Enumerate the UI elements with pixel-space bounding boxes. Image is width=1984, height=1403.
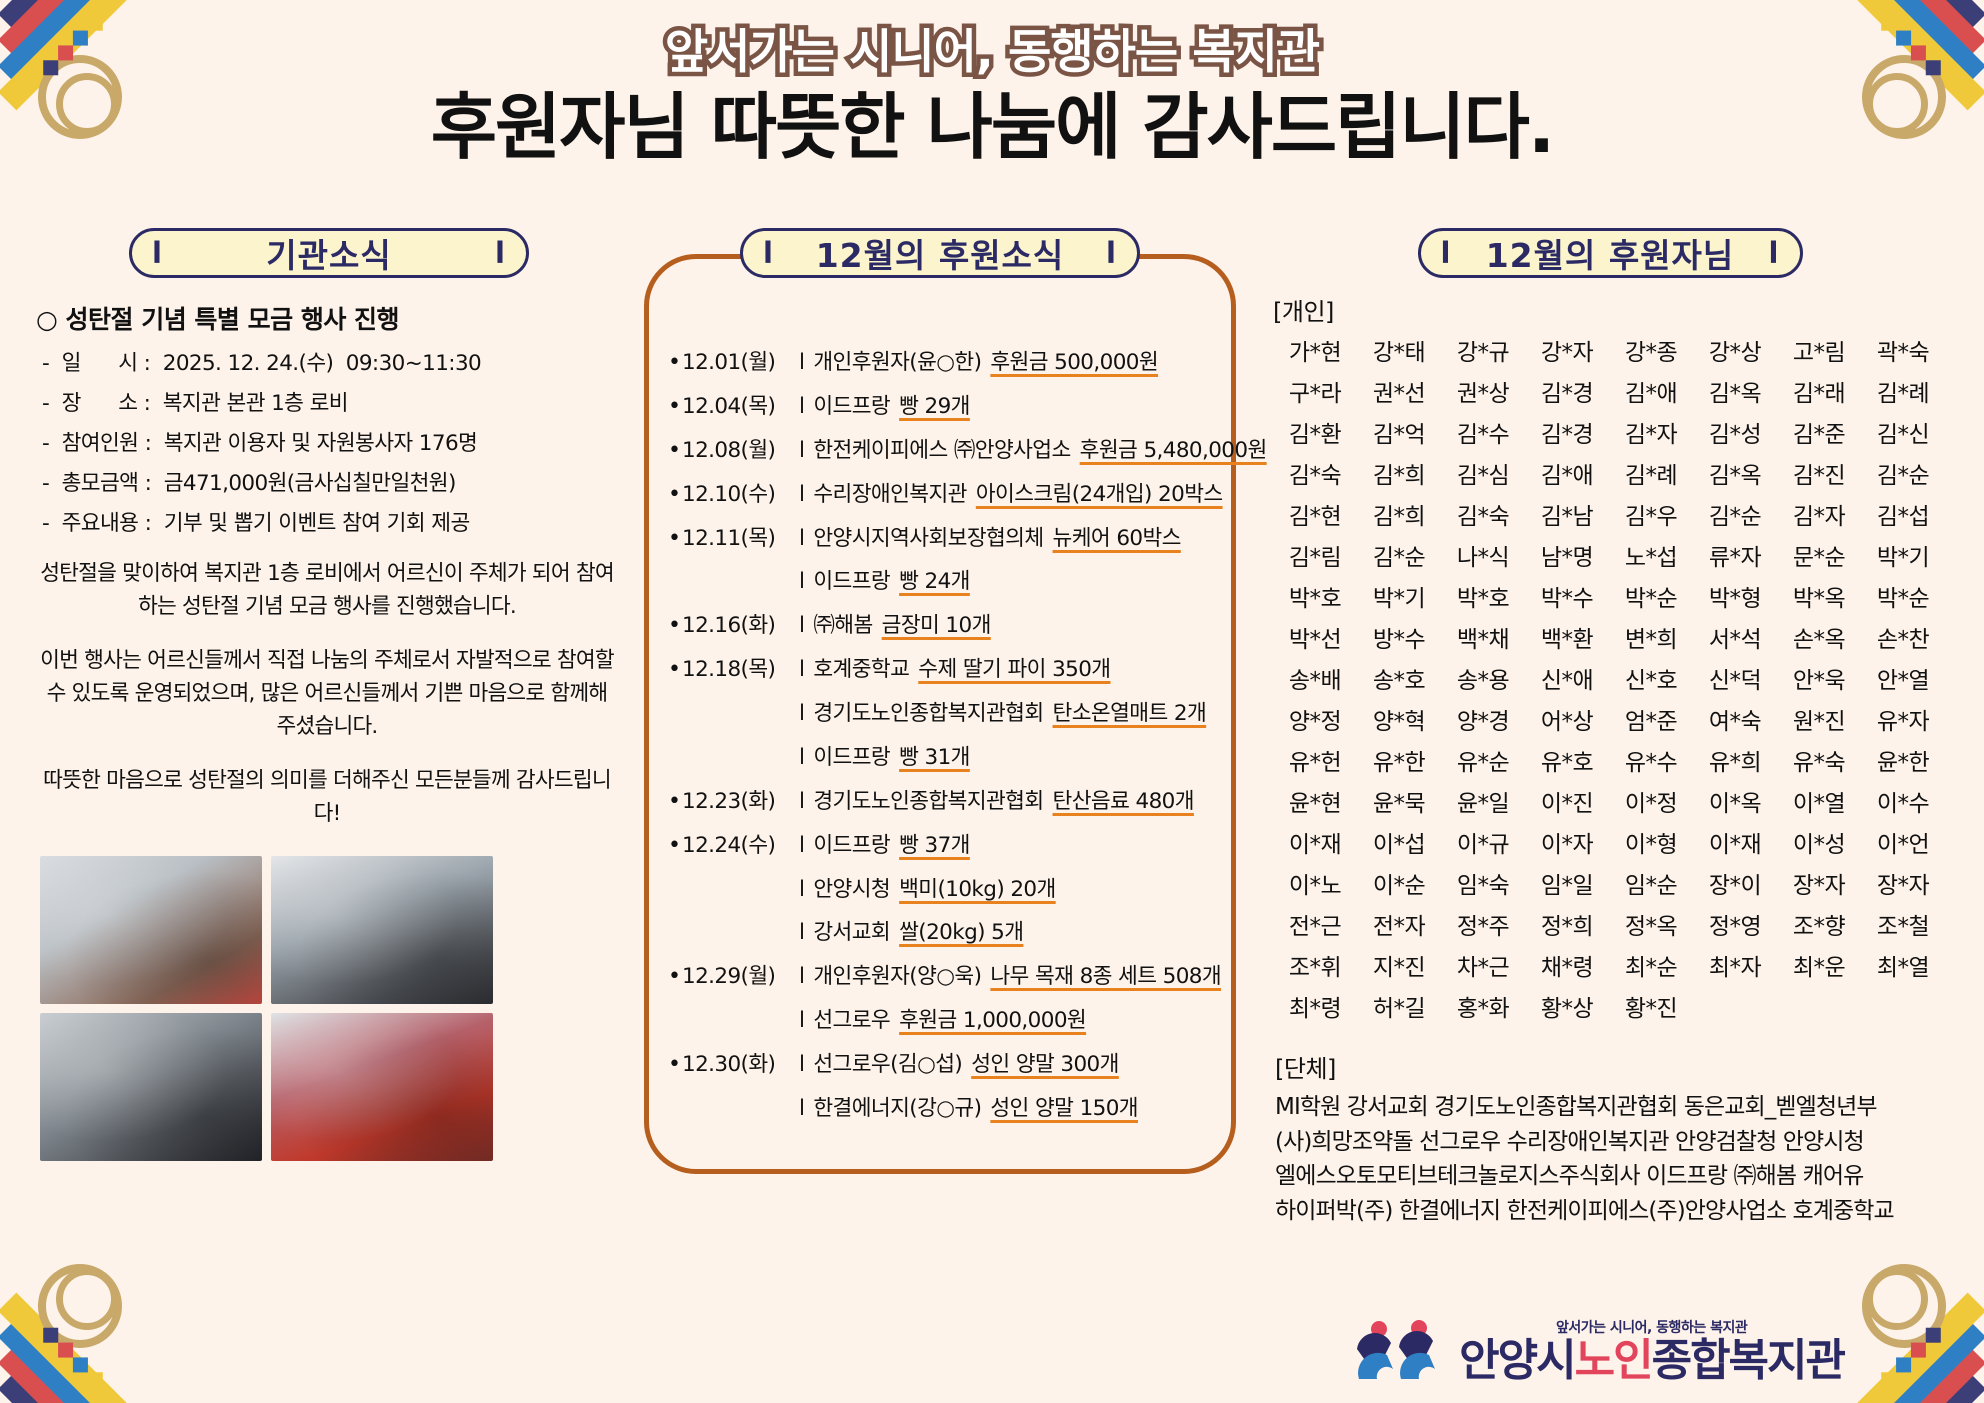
- donor-name-cell: 박*수: [1527, 579, 1607, 613]
- donor-name-cell: 이*성: [1779, 825, 1859, 859]
- separator-icon: l: [790, 964, 813, 991]
- donor-name-cell: 김*남: [1527, 497, 1607, 531]
- donor-name-cell: 박*형: [1695, 579, 1775, 613]
- donor-name-cell: 김*희: [1359, 497, 1439, 531]
- donor-name: 강서교회: [813, 920, 890, 947]
- donor-name-cell: 양*정: [1275, 702, 1355, 736]
- pill-tick-right-icon: l: [1769, 236, 1780, 270]
- donor-name-cell: 어*상: [1527, 702, 1607, 736]
- corner-ornament-bottom-left: [0, 1253, 150, 1403]
- separator-icon: l: [790, 1096, 813, 1123]
- separator-icon: l: [790, 789, 813, 816]
- donor-name-cell: 윤*묵: [1359, 784, 1439, 818]
- donor-name-cell: 박*옥: [1779, 579, 1859, 613]
- donor-name-cell: 유*숙: [1779, 743, 1859, 777]
- separator-icon: l: [790, 657, 813, 684]
- donor-name-cell: 이*진: [1527, 784, 1607, 818]
- donor-name-cell: 강*태: [1359, 333, 1439, 367]
- donor-name-cell: 김*수: [1443, 415, 1523, 449]
- donation-date: 12.30(화): [682, 1052, 790, 1079]
- event-photo: [40, 856, 262, 1004]
- donation-amount: 탄소온열매트 2개: [1044, 701, 1207, 728]
- bullet-icon: •: [668, 615, 682, 637]
- donation-date: 12.24(수): [682, 833, 790, 860]
- column-institution-news: l 기관소식 l ○ 성탄절 기념 특별 모금 행사 진행 - 일 시 : 20…: [0, 228, 630, 1228]
- donor-name-cell: 송*호: [1359, 661, 1439, 695]
- donor-name-cell: 김*애: [1611, 374, 1691, 408]
- column-donor-names: l 12월의 후원자님 l [개인] 가*현강*태강*규강*자강*종강*상고*림…: [1255, 228, 1955, 1228]
- donor-name-cell: 장*자: [1863, 866, 1943, 900]
- donor-name-cell: 양*혁: [1359, 702, 1439, 736]
- donor-name-cell: 이*열: [1779, 784, 1859, 818]
- donor-name-cell: 윤*일: [1443, 784, 1523, 818]
- donor-name-cell: 류*자: [1695, 538, 1775, 572]
- bullet-icon: •: [668, 835, 682, 857]
- donation-amount: 아이스크림(24개입) 20박스: [967, 482, 1223, 509]
- donation-date: 12.23(화): [682, 789, 790, 816]
- separator-icon: l: [790, 482, 813, 509]
- donor-name-cell: 강*종: [1611, 333, 1691, 367]
- donor-name-cell: 김*경: [1527, 415, 1607, 449]
- donation-amount: 후원금 500,000원: [981, 350, 1158, 377]
- donor-name-cell: 전*근: [1275, 907, 1355, 941]
- organization-donor-line: 엘에스오토모티브테크놀로지스주식회사 이드프랑 ㈜해봄 캐어유: [1275, 1159, 1945, 1194]
- donation-list-item: •12.00(월)l한결에너지(강○규)성인 양말 150개: [668, 1096, 1246, 1123]
- donor-name-cell: 엄*준: [1611, 702, 1691, 736]
- donor-name-cell: 최*순: [1611, 948, 1691, 982]
- donor-name-cell: 김*진: [1779, 456, 1859, 490]
- donor-name-cell: 김*준: [1779, 415, 1859, 449]
- donor-name-cell: 임*순: [1611, 866, 1691, 900]
- donation-list-item: •12.10(수)l수리장애인복지관아이스크림(24개입) 20박스: [668, 482, 1246, 509]
- donor-name-cell: 김*성: [1695, 415, 1775, 449]
- donor-name-cell: 이*자: [1527, 825, 1607, 859]
- donor-name-cell: 이*형: [1611, 825, 1691, 859]
- section-heading-label: 12월의 후원소식: [816, 229, 1065, 277]
- donor-name-cell: 박*호: [1275, 579, 1355, 613]
- donor-name: 개인후원자(양○욱): [813, 964, 981, 991]
- donor-name-cell: 이*규: [1443, 825, 1523, 859]
- donor-name-cell: 김*희: [1359, 456, 1439, 490]
- donation-amount: 백미(10kg) 20개: [890, 877, 1056, 904]
- donor-name-cell: 최*열: [1863, 948, 1943, 982]
- donor-name: 선그로우: [813, 1008, 890, 1035]
- donation-amount: 뉴케어 60박스: [1044, 526, 1181, 553]
- event-photo: [271, 1013, 493, 1161]
- donor-name: 안양시청: [813, 877, 890, 904]
- donation-date: 12.11(목): [682, 526, 790, 553]
- donor-name-cell: 유*헌: [1275, 743, 1355, 777]
- donor-name-cell: 유*한: [1359, 743, 1439, 777]
- donation-amount: 후원금 1,000,000원: [890, 1008, 1086, 1035]
- donation-list-item: •12.00(월)l안양시청백미(10kg) 20개: [668, 877, 1246, 904]
- donation-amount: 수제 딸기 파이 350개: [909, 657, 1110, 684]
- donor-name-cell: 윤*현: [1275, 784, 1355, 818]
- donation-date: 12.08(월): [682, 438, 790, 465]
- bullet-icon: •: [668, 440, 682, 462]
- pill-tick-right-icon: l: [1106, 236, 1117, 270]
- donor-name-cell: 송*용: [1443, 661, 1523, 695]
- donor-name-cell: 이*순: [1359, 866, 1439, 900]
- donor-name-cell: 양*경: [1443, 702, 1523, 736]
- bullet-icon: •: [668, 484, 682, 506]
- donor-name: 안양시지역사회보장협의체: [813, 526, 1043, 553]
- corner-ornament-bottom-right: [1834, 1253, 1984, 1403]
- separator-icon: l: [790, 526, 813, 553]
- donation-date: 12.29(월): [682, 964, 790, 991]
- donor-name-cell: 박*기: [1359, 579, 1439, 613]
- donor-name-cell: 김*현: [1275, 497, 1355, 531]
- donor-name-cell: 김*자: [1611, 415, 1691, 449]
- organization-donors-block: [단체] MI학원 강서교회 경기도노인종합복지관협회 동은교회_벧엘청년부(사…: [1275, 1049, 1945, 1228]
- donor-name-cell: 정*희: [1527, 907, 1607, 941]
- news-detail-line: - 총모금액 : 금471,000원(금사십칠만일천원): [42, 466, 630, 497]
- donor-name-cell: 김*우: [1611, 497, 1691, 531]
- corner-ornament-top-left: [0, 0, 150, 150]
- donor-name-cell: 김*숙: [1443, 497, 1523, 531]
- donor-name: 이드프랑: [813, 745, 890, 772]
- donor-name-cell: 이*정: [1611, 784, 1691, 818]
- donor-name-cell: 유*순: [1443, 743, 1523, 777]
- section-heading-label: 기관소식: [266, 229, 391, 277]
- donation-list-item: •12.16(화)l㈜해봄금장미 10개: [668, 613, 1246, 640]
- donor-name-cell: 이*언: [1863, 825, 1943, 859]
- news-detail-line: - 주요내용 : 기부 및 뽑기 이벤트 참여 기회 제공: [42, 506, 630, 537]
- donor-name-cell: 신*애: [1527, 661, 1607, 695]
- separator-icon: l: [790, 833, 813, 860]
- news-paragraphs: 성탄절을 맞이하여 복지관 1층 로비에서 어르신이 주체가 되어 참여하는 성…: [28, 557, 630, 830]
- separator-icon: l: [790, 569, 813, 596]
- donation-date: 12.16(화): [682, 613, 790, 640]
- donor-name-cell: 김*순: [1695, 497, 1775, 531]
- donor-name: 한전케이피에스 ㈜안양사업소: [813, 438, 1070, 465]
- donor-name: 수리장애인복지관: [813, 482, 966, 509]
- donation-list-item: •12.30(화)l선그로우(김○섭)성인 양말 300개: [668, 1052, 1246, 1079]
- donor-name-cell: 남*명: [1527, 538, 1607, 572]
- donor-name-cell: 황*상: [1527, 989, 1607, 1023]
- donor-name: 이드프랑: [813, 569, 890, 596]
- donor-name-cell: 정*옥: [1611, 907, 1691, 941]
- donor-name-cell: 김*경: [1527, 374, 1607, 408]
- donor-name-cell: 안*열: [1863, 661, 1943, 695]
- poster-header: 앞서가는 시니어, 동행하는 복지관 후원자님 따뜻한 나눔에 감사드립니다.: [0, 0, 1984, 172]
- donor-name-cell: 김*례: [1863, 374, 1943, 408]
- page-title: 후원자님 따뜻한 나눔에 감사드립니다.: [0, 82, 1984, 172]
- donation-date: 12.04(목): [682, 394, 790, 421]
- donation-amount: 나무 목재 8종 세트 508개: [981, 964, 1221, 991]
- donor-name: 경기도노인종합복지관협회: [813, 789, 1043, 816]
- donor-name-cell: 유*호: [1527, 743, 1607, 777]
- donor-name-cell: 장*이: [1695, 866, 1775, 900]
- donor-name-cell: 박*호: [1443, 579, 1523, 613]
- donation-list-item: •12.23(화)l경기도노인종합복지관협회탄산음료 480개: [668, 789, 1246, 816]
- donation-list-item: •12.11(목)l안양시지역사회보장협의체뉴케어 60박스: [668, 526, 1246, 553]
- donor-name-cell: 손*찬: [1863, 620, 1943, 654]
- donation-list-item: •12.00(월)l경기도노인종합복지관협회탄소온열매트 2개: [668, 701, 1246, 728]
- donation-list-item: •12.01(월)l개인후원자(윤○한)후원금 500,000원: [668, 350, 1246, 377]
- donor-name-cell: 최*운: [1779, 948, 1859, 982]
- donor-name-cell: 김*억: [1359, 415, 1439, 449]
- donor-name-cell: 고*림: [1779, 333, 1859, 367]
- donation-date: 12.18(목): [682, 657, 790, 684]
- donor-name-cell: 권*선: [1359, 374, 1439, 408]
- donor-name-cell: 노*섭: [1611, 538, 1691, 572]
- news-paragraph: 성탄절을 맞이하여 복지관 1층 로비에서 어르신이 주체가 되어 참여하는 성…: [38, 557, 616, 624]
- donor-name-cell: 이*옥: [1695, 784, 1775, 818]
- donation-date: 12.01(월): [682, 350, 790, 377]
- donor-name-cell: 이*섭: [1359, 825, 1439, 859]
- donation-amount: 성인 양말 300개: [962, 1052, 1119, 1079]
- section-heading-institution-news: l 기관소식 l: [129, 228, 529, 278]
- donor-name-cell: 최*자: [1695, 948, 1775, 982]
- pill-tick-left-icon: l: [152, 236, 163, 270]
- donor-name-cell: 김*순: [1863, 456, 1943, 490]
- bullet-icon: •: [668, 1054, 682, 1076]
- donor-name: 이드프랑: [813, 833, 890, 860]
- donor-name-cell: 김*림: [1275, 538, 1355, 572]
- donor-name-cell: 차*근: [1443, 948, 1523, 982]
- news-detail-line: - 일 시 : 2025. 12. 24.(수) 09:30~11:30: [42, 346, 630, 377]
- donor-name-cell: 정*영: [1695, 907, 1775, 941]
- donor-name-cell: 채*령: [1527, 948, 1607, 982]
- donor-name-cell: 박*기: [1863, 538, 1943, 572]
- donor-name-cell: 강*상: [1695, 333, 1775, 367]
- donor-name: 경기도노인종합복지관협회: [813, 701, 1043, 728]
- donation-list-item: •12.24(수)l이드프랑빵 37개: [668, 833, 1246, 860]
- donor-name: 호계중학교: [813, 657, 909, 684]
- donor-name-cell: 조*철: [1863, 907, 1943, 941]
- donation-list-item: •12.04(목)l이드프랑빵 29개: [668, 394, 1246, 421]
- bullet-icon: •: [668, 966, 682, 988]
- donor-name-cell: 곽*숙: [1863, 333, 1943, 367]
- donor-name-cell: 김*신: [1863, 415, 1943, 449]
- donor-name-cell: 허*길: [1359, 989, 1439, 1023]
- pill-tick-left-icon: l: [763, 236, 774, 270]
- donor-name-cell: 김*옥: [1695, 374, 1775, 408]
- donor-name-cell: 장*자: [1779, 866, 1859, 900]
- donor-name-cell: 김*래: [1779, 374, 1859, 408]
- donor-name-cell: 임*일: [1527, 866, 1607, 900]
- donor-name-cell: 안*욱: [1779, 661, 1859, 695]
- bullet-icon: •: [668, 396, 682, 418]
- logo-name: 안양시노인종합복지관: [1459, 1339, 1844, 1383]
- bullet-icon: •: [668, 659, 682, 681]
- separator-icon: l: [790, 350, 813, 377]
- organization-donor-line: 하이퍼박(주) 한결에너지 한전케이피에스(주)안양사업소 호계중학교: [1275, 1194, 1945, 1229]
- separator-icon: l: [790, 613, 813, 640]
- separator-icon: l: [790, 1052, 813, 1079]
- donor-name-cell: 김*섭: [1863, 497, 1943, 531]
- donor-name-cell: 전*자: [1359, 907, 1439, 941]
- donation-list-item: •12.29(월)l개인후원자(양○욱)나무 목재 8종 세트 508개: [668, 964, 1246, 991]
- donor-name-cell: 원*진: [1779, 702, 1859, 736]
- donor-name-cell: 이*수: [1863, 784, 1943, 818]
- organization-donor-list: MI학원 강서교회 경기도노인종합복지관협회 동은교회_벧엘청년부(사)희망조약…: [1275, 1090, 1945, 1228]
- donor-name-cell: 문*순: [1779, 538, 1859, 572]
- bullet-icon: •: [668, 791, 682, 813]
- donor-name-cell: 김*숙: [1275, 456, 1355, 490]
- donor-name-cell: 김*순: [1359, 538, 1439, 572]
- news-detail-list: - 일 시 : 2025. 12. 24.(수) 09:30~11:30- 장 …: [28, 346, 630, 537]
- donation-list-item: •12.00(월)l선그로우후원금 1,000,000원: [668, 1008, 1246, 1035]
- donor-name-cell: 조*휘: [1275, 948, 1355, 982]
- event-photo: [40, 1013, 262, 1161]
- donation-amount: 금장미 10개: [873, 613, 991, 640]
- donation-amount: 빵 31개: [890, 745, 970, 772]
- organization-donors-label: [단체]: [1275, 1049, 1945, 1084]
- donation-list-item: •12.00(월)l강서교회쌀(20kg) 5개: [668, 920, 1246, 947]
- donor-name-cell: 신*호: [1611, 661, 1691, 695]
- donor-name-cell: 조*향: [1779, 907, 1859, 941]
- donation-amount: 탄산음료 480개: [1044, 789, 1194, 816]
- donor-name-cell: 유*수: [1611, 743, 1691, 777]
- donor-name: 개인후원자(윤○한): [813, 350, 981, 377]
- donor-name-cell: 가*현: [1275, 333, 1355, 367]
- donor-name: 선그로우(김○섭): [813, 1052, 962, 1079]
- donation-amount: 성인 양말 150개: [981, 1096, 1138, 1123]
- donor-name-cell: 홍*화: [1443, 989, 1523, 1023]
- donation-list: •12.01(월)l개인후원자(윤○한)후원금 500,000원•12.04(목…: [634, 284, 1246, 1123]
- donor-name-cell: 윤*한: [1863, 743, 1943, 777]
- donor-name-cell: 나*식: [1443, 538, 1523, 572]
- donor-name-cell: 김*심: [1443, 456, 1523, 490]
- separator-icon: l: [790, 701, 813, 728]
- content-columns: l 기관소식 l ○ 성탄절 기념 특별 모금 행사 진행 - 일 시 : 20…: [0, 228, 1984, 1228]
- donation-amount: 쌀(20kg) 5개: [890, 920, 1023, 947]
- donor-name-cell: 여*숙: [1695, 702, 1775, 736]
- donor-name-cell: 신*덕: [1695, 661, 1775, 695]
- donor-name-cell: 김*환: [1275, 415, 1355, 449]
- separator-icon: l: [790, 438, 813, 465]
- donor-name: 한결에너지(강○규): [813, 1096, 981, 1123]
- donor-name-cell: 손*옥: [1779, 620, 1859, 654]
- donor-name-cell: 변*희: [1611, 620, 1691, 654]
- pill-tick-right-icon: l: [495, 236, 506, 270]
- donor-name-cell: 강*규: [1443, 333, 1523, 367]
- donation-amount: 빵 29개: [890, 394, 970, 421]
- bullet-icon: •: [668, 352, 682, 374]
- donor-name-cell: 유*자: [1863, 702, 1943, 736]
- donor-name-cell: 박*순: [1863, 579, 1943, 613]
- donor-name-cell: 강*자: [1527, 333, 1607, 367]
- donor-name-cell: 최*령: [1275, 989, 1355, 1023]
- donor-name: ㈜해봄: [813, 613, 872, 640]
- donor-name-cell: 유*희: [1695, 743, 1775, 777]
- donation-list-item: •12.18(목)l호계중학교수제 딸기 파이 350개: [668, 657, 1246, 684]
- separator-icon: l: [790, 920, 813, 947]
- donation-amount: 후원금 5,480,000원: [1071, 438, 1267, 465]
- donor-name-cell: 지*진: [1359, 948, 1439, 982]
- individual-donor-grid: 가*현강*태강*규강*자강*종강*상고*림곽*숙구*라권*선권*상김*경김*애김…: [1275, 333, 1943, 1023]
- organization-donor-line: MI학원 강서교회 경기도노인종합복지관협회 동은교회_벧엘청년부: [1275, 1090, 1945, 1125]
- donor-name-cell: 백*채: [1443, 620, 1523, 654]
- donor-name-cell: 김*옥: [1695, 456, 1775, 490]
- event-photo: [271, 856, 493, 1004]
- people-logo-icon: [1353, 1319, 1445, 1381]
- pill-tick-left-icon: l: [1441, 236, 1452, 270]
- section-heading-donation-news: l 12월의 후원소식 l: [740, 228, 1140, 278]
- event-photo-grid: [40, 856, 630, 1161]
- corner-ornament-top-right: [1834, 0, 1984, 150]
- logo-tagline: 앞서가는 시니어, 동행하는 복지관: [1459, 1317, 1844, 1337]
- donation-date: 12.10(수): [682, 482, 790, 509]
- donor-name-cell: 김*애: [1527, 456, 1607, 490]
- news-paragraph: 따뜻한 마음으로 성탄절의 의미를 더해주신 모든분들께 감사드립니다!: [38, 764, 616, 831]
- donor-name-cell: 백*환: [1527, 620, 1607, 654]
- donation-amount: 빵 37개: [890, 833, 970, 860]
- donor-name-cell: 황*진: [1611, 989, 1691, 1023]
- separator-icon: l: [790, 394, 813, 421]
- donor-name-cell: 서*석: [1695, 620, 1775, 654]
- donation-list-item: •12.00(월)l이드프랑빵 24개: [668, 569, 1246, 596]
- individual-donors-label: [개인]: [1273, 292, 1955, 327]
- poster-subtitle: 앞서가는 시니어, 동행하는 복지관: [0, 26, 1984, 80]
- donor-name-cell: 박*순: [1611, 579, 1691, 613]
- donor-name-cell: 방*수: [1359, 620, 1439, 654]
- donation-list-item: •12.00(월)l이드프랑빵 31개: [668, 745, 1246, 772]
- donor-name-cell: 송*배: [1275, 661, 1355, 695]
- donor-name-cell: 박*선: [1275, 620, 1355, 654]
- news-headline: ○ 성탄절 기념 특별 모금 행사 진행: [36, 300, 630, 336]
- donor-name: 이드프랑: [813, 394, 890, 421]
- organization-logo: 앞서가는 시니어, 동행하는 복지관 안양시노인종합복지관: [1353, 1317, 1844, 1383]
- bullet-icon: •: [668, 528, 682, 550]
- organization-donor-line: (사)희망조약돌 선그로우 수리장애인복지관 안양검찰청 안양시청: [1275, 1125, 1945, 1160]
- news-paragraph: 이번 행사는 어르신들께서 직접 나눔의 주체로서 자발적으로 참여할 수 있도…: [38, 644, 616, 744]
- section-heading-label: 12월의 후원자님: [1486, 229, 1735, 277]
- donation-list-item: •12.08(월)l한전케이피에스 ㈜안양사업소후원금 5,480,000원: [668, 438, 1246, 465]
- donor-name-cell: 이*재: [1275, 825, 1355, 859]
- news-detail-line: - 참여인원 : 복지관 이용자 및 자원봉사자 176명: [42, 426, 630, 457]
- donor-name-cell: 이*노: [1275, 866, 1355, 900]
- donor-name-cell: 김*자: [1779, 497, 1859, 531]
- column-donation-news: l 12월의 후원소식 l •12.01(월)l개인후원자(윤○한)후원금 50…: [630, 228, 1255, 1228]
- donor-name-cell: 이*재: [1695, 825, 1775, 859]
- donor-name-cell: 정*주: [1443, 907, 1523, 941]
- donor-name-cell: 구*라: [1275, 374, 1355, 408]
- donor-name-cell: 김*례: [1611, 456, 1691, 490]
- news-detail-line: - 장 소 : 복지관 본관 1층 로비: [42, 386, 630, 417]
- separator-icon: l: [790, 877, 813, 904]
- logo-text: 앞서가는 시니어, 동행하는 복지관 안양시노인종합복지관: [1459, 1317, 1844, 1383]
- donor-name-cell: 권*상: [1443, 374, 1523, 408]
- separator-icon: l: [790, 1008, 813, 1035]
- donation-amount: 빵 24개: [890, 569, 970, 596]
- section-heading-donors: l 12월의 후원자님 l: [1418, 228, 1803, 278]
- separator-icon: l: [790, 745, 813, 772]
- donor-name-cell: 임*숙: [1443, 866, 1523, 900]
